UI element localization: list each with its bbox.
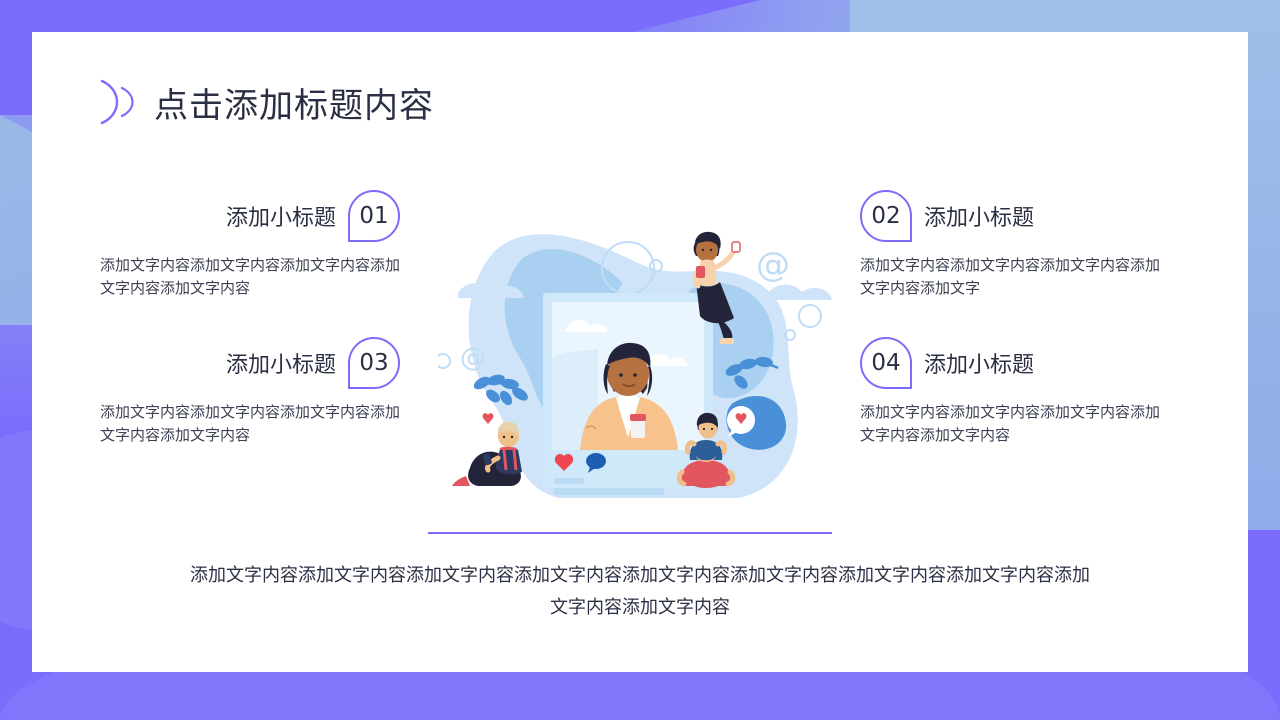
at-symbol-right: @ — [756, 245, 790, 285]
block-04-subtitle: 添加小标题 — [924, 347, 1034, 379]
badge-02[interactable]: 02 — [860, 190, 912, 242]
bubble-small-3 — [438, 354, 450, 368]
slide-root: 点击添加标题内容 添加小标题 01 添加文字内容添加文字内容添加文字内容添加文字… — [0, 0, 1280, 720]
cloud-right — [768, 285, 832, 300]
content-block-04: 04 添加小标题 添加文字内容添加文字内容添加文字内容添加文字内容添加文字内容 — [860, 337, 1160, 448]
content-block-02: 02 添加小标题 添加文字内容添加文字内容添加文字内容添加文字内容添加文字 — [860, 190, 1160, 301]
content-block-01: 添加小标题 01 添加文字内容添加文字内容添加文字内容添加文字内容添加文字内容 — [100, 190, 400, 301]
block-02-body: 添加文字内容添加文字内容添加文字内容添加文字内容添加文字 — [860, 254, 1160, 301]
double-arc-icon — [92, 76, 138, 128]
footer-divider — [428, 532, 832, 534]
badge-04[interactable]: 04 — [860, 337, 912, 389]
comment-icon — [586, 453, 606, 469]
footer-paragraph: 添加文字内容添加文字内容添加文字内容添加文字内容添加文字内容添加文字内容添加文字… — [190, 560, 1090, 623]
badge-01[interactable]: 01 — [348, 190, 400, 242]
block-03-head: 添加小标题 03 — [100, 337, 400, 389]
block-03-subtitle: 添加小标题 — [226, 347, 336, 379]
page-title-row: 点击添加标题内容 — [92, 76, 434, 128]
page-title: 点击添加标题内容 — [154, 78, 434, 127]
block-01-subtitle: 添加小标题 — [226, 200, 336, 232]
block-02-subtitle: 添加小标题 — [924, 200, 1034, 232]
block-03-body: 添加文字内容添加文字内容添加文字内容添加文字内容添加文字内容 — [100, 401, 400, 448]
badge-03[interactable]: 03 — [348, 337, 400, 389]
content-block-03: 添加小标题 03 添加文字内容添加文字内容添加文字内容添加文字内容添加文字内容 — [100, 337, 400, 448]
bubble-small-4 — [799, 305, 821, 327]
social-media-post-illustration: @ @ — [438, 198, 838, 528]
at-symbol-left: @ — [460, 343, 486, 373]
block-01-head: 添加小标题 01 — [100, 190, 400, 242]
block-01-body: 添加文字内容添加文字内容添加文字内容添加文字内容添加文字内容 — [100, 254, 400, 301]
block-04-body: 添加文字内容添加文字内容添加文字内容添加文字内容添加文字内容 — [860, 401, 1160, 448]
block-04-head: 04 添加小标题 — [860, 337, 1160, 389]
block-02-head: 02 添加小标题 — [860, 190, 1160, 242]
